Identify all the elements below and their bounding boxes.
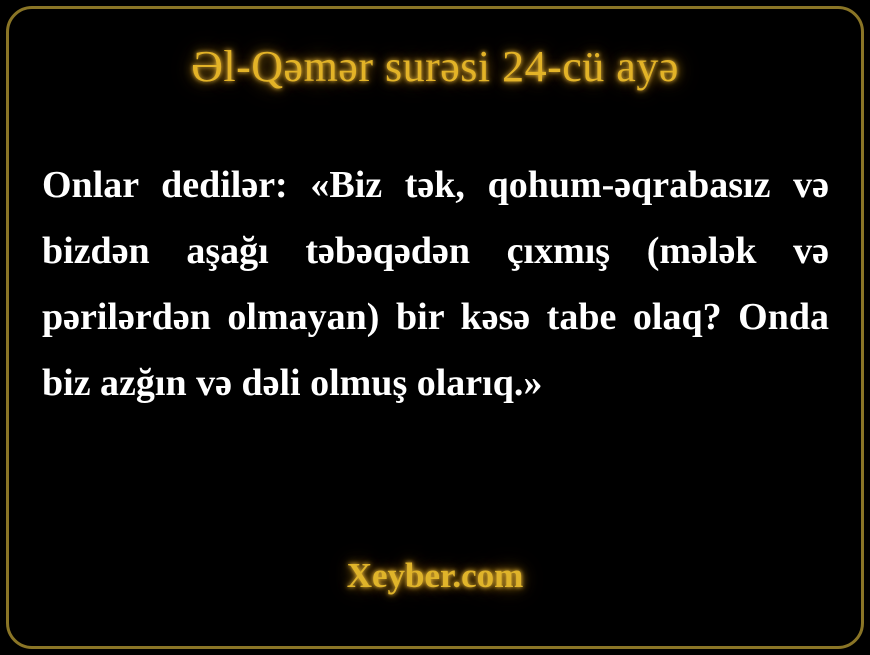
ayah-body-text: Onlar dedilər: «Biz tək, qohum-əqrabasız…	[42, 152, 829, 416]
page-title: Əl-Qəmər surəsi 24-cü ayə	[0, 44, 870, 90]
quote-slide: Əl-Qəmər surəsi 24-cü ayə Onlar dedilər:…	[0, 0, 870, 655]
site-watermark: Xeyber.com	[0, 556, 870, 596]
slide-content: Əl-Qəmər surəsi 24-cü ayə Onlar dedilər:…	[0, 0, 870, 655]
